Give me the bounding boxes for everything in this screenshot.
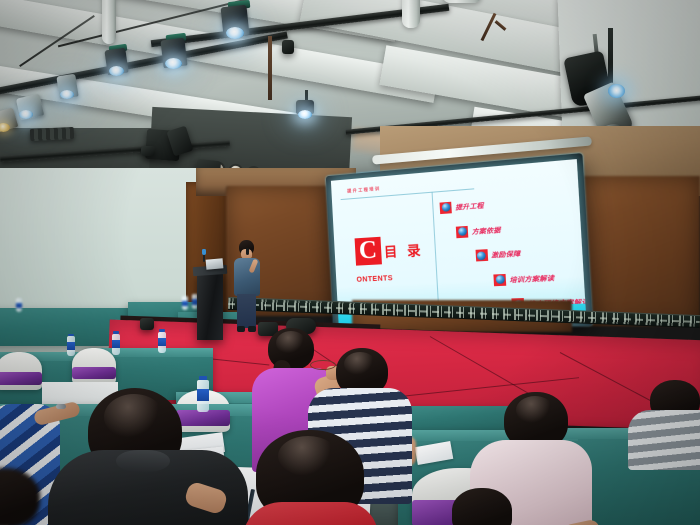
water-bottle — [112, 334, 120, 355]
contents-title: 目 录 — [384, 243, 424, 259]
slide-bullet-3: 激励保障 — [475, 247, 520, 261]
bottle-cap — [199, 376, 207, 380]
hair-highlight — [516, 396, 554, 424]
spotlight-hanger — [608, 28, 613, 88]
light-lamp — [165, 58, 182, 69]
light-lamp — [298, 110, 312, 119]
bullet-icon — [456, 225, 468, 237]
slide-header-text: 提升工程培训 — [347, 185, 381, 194]
bottle-label — [197, 389, 209, 401]
bottle-label — [16, 303, 22, 308]
podium-bottle — [202, 249, 206, 255]
floor-equipment — [140, 318, 154, 330]
ceiling-pipe — [442, 0, 482, 3]
ceiling-conduit — [268, 36, 272, 100]
contents-subtitle: ONTENTS — [356, 275, 393, 284]
chair-sash — [176, 410, 230, 426]
speaker-shoe — [237, 326, 245, 332]
bottle-cap — [159, 329, 164, 332]
bullet-label: 方案依据 — [471, 224, 500, 235]
slide-bullet-list: 提升工程 方案依据 激励保障 培训方案解读 — [437, 182, 586, 316]
light-lamp — [109, 66, 124, 76]
bottle-label — [182, 301, 188, 306]
water-bottle — [16, 298, 22, 312]
ceiling-vent — [30, 127, 75, 141]
contents-c-badge: C — [354, 237, 381, 266]
contents-letter: C — [358, 237, 377, 263]
ceiling-fixture — [282, 40, 294, 54]
speaker-shoe — [248, 326, 256, 332]
light-lamp — [19, 110, 33, 119]
bullet-label: 培训方案解读 — [509, 272, 554, 284]
speaker-trousers — [237, 294, 256, 328]
handheld-microphone — [246, 248, 249, 255]
conference-hall-scene: 提升工程培训 C 目 录 ONTENTS 提升工程 — [0, 0, 700, 525]
slide-bullet-1: 提升工程 — [440, 199, 484, 214]
grey-striped-shirt — [628, 410, 700, 470]
ceiling-fixture — [141, 146, 155, 156]
bottle-body — [202, 249, 206, 255]
slide-bullet-4: 培训方案解读 — [494, 271, 555, 286]
ceiling-pipe — [102, 0, 116, 44]
hair-highlight — [344, 352, 376, 376]
bullet-label: 激励保障 — [491, 248, 521, 259]
water-bottle — [197, 380, 209, 412]
hair-highlight — [278, 436, 338, 476]
bottle-label — [112, 340, 120, 348]
ceiling-pipe — [402, 0, 420, 28]
attendee-head — [452, 488, 512, 525]
hair-highlight — [276, 331, 306, 355]
chair-sash — [72, 367, 116, 379]
contents-logo-block: C 目 录 — [354, 234, 424, 266]
light-lamp — [60, 90, 74, 99]
eyeglasses — [310, 360, 336, 370]
bottle-cap — [68, 334, 73, 337]
bullet-icon — [475, 249, 488, 261]
hair-highlight — [104, 394, 164, 440]
spotlight-glow — [608, 84, 625, 98]
chair-sash — [0, 372, 42, 385]
wristwatch — [56, 404, 66, 409]
podium[interactable] — [197, 272, 223, 340]
water-bottle — [158, 332, 166, 353]
bullet-icon — [440, 202, 452, 214]
water-bottle — [67, 336, 75, 356]
bullet-icon — [494, 273, 507, 285]
bottle-cap — [113, 331, 118, 334]
polo-collar — [116, 450, 170, 472]
bullet-label: 提升工程 — [455, 200, 484, 212]
slide-bullet-2: 方案依据 — [456, 223, 501, 237]
bottle-label — [158, 338, 166, 346]
light-lamp — [226, 27, 244, 39]
bottle-label — [67, 342, 75, 350]
water-bottle — [182, 296, 188, 310]
presenter-laptop[interactable] — [206, 258, 224, 269]
